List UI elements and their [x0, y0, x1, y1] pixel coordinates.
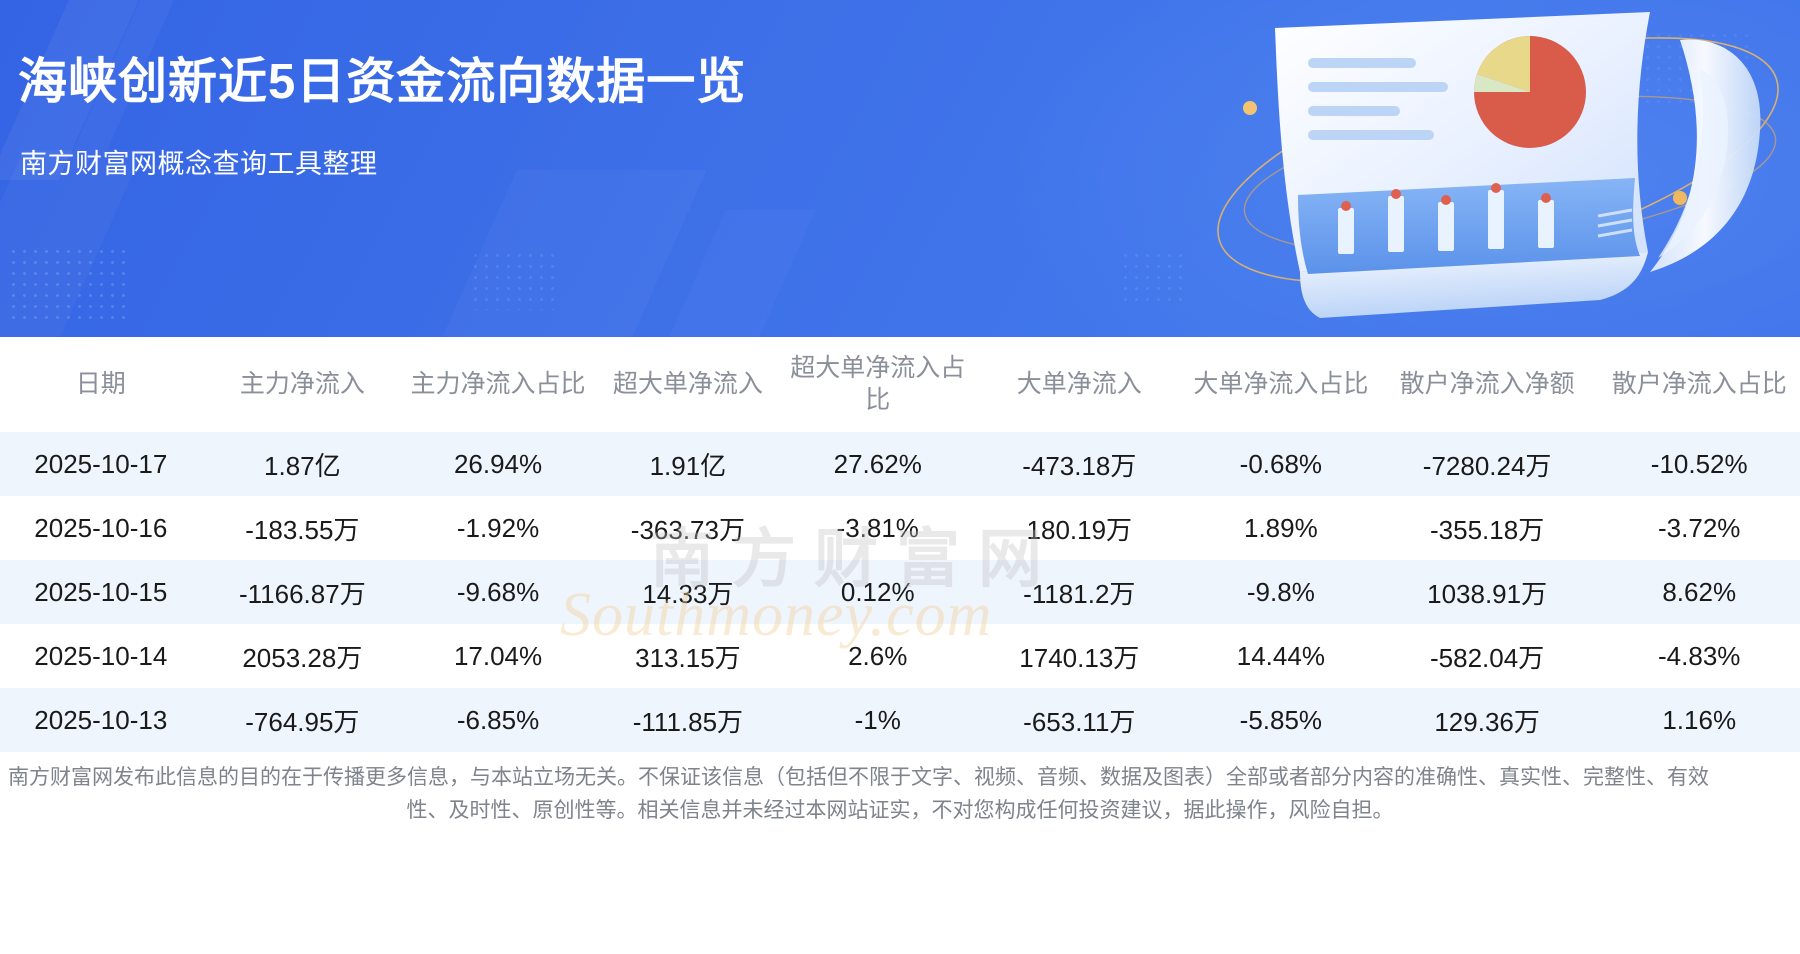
cell-main-net: -764.95万 — [202, 688, 404, 752]
page-subtitle: 南方财富网概念查询工具整理 — [20, 148, 378, 180]
cell-retail-pct: 8.62% — [1598, 560, 1800, 624]
column-header-xl-pct: 超大单净流入占比 — [783, 337, 973, 432]
report-illustration-icon — [1180, 0, 1800, 337]
disclaimer-footer: 南方财富网发布此信息的目的在于传播更多信息，与本站立场无关。不保证该信息（包括但… — [0, 752, 1800, 954]
cell-main-pct: 26.94% — [403, 432, 593, 496]
table-body: 2025-10-17 1.87亿 26.94% 1.91亿 27.62% -47… — [0, 432, 1800, 752]
cell-retail-net: 1038.91万 — [1376, 560, 1599, 624]
cell-lg-net: 1740.13万 — [973, 624, 1186, 688]
cell-xl-pct: -3.81% — [783, 496, 973, 560]
disclaimer-line-2: 性、及时性、原创性等。相关信息并未经过本网站证实，不对您构成任何投资建议，据此操… — [8, 795, 1792, 828]
page-root: 海峡创新近5日资金流向数据一览 南方财富网概念查询工具整理 — [0, 0, 1800, 954]
cell-xl-pct: 27.62% — [783, 432, 973, 496]
cell-retail-pct: -4.83% — [1598, 624, 1800, 688]
table-row: 2025-10-13 -764.95万 -6.85% -111.85万 -1% … — [0, 688, 1800, 752]
fund-flow-table: 日期 主力净流入 主力净流入占比 超大单净流入 超大单净流入占比 大单净流入 大… — [0, 337, 1800, 752]
cell-main-net: -183.55万 — [202, 496, 404, 560]
decorative-streak — [654, 210, 815, 337]
cell-main-pct: 17.04% — [403, 624, 593, 688]
decorative-dot-pattern — [1120, 250, 1190, 308]
cell-lg-net: -473.18万 — [973, 432, 1186, 496]
fund-flow-table-container: 日期 主力净流入 主力净流入占比 超大单净流入 超大单净流入占比 大单净流入 大… — [0, 337, 1800, 752]
cell-date: 2025-10-14 — [0, 624, 202, 688]
cell-xl-net: 1.91亿 — [593, 432, 783, 496]
column-header-lg-net: 大单净流入 — [973, 337, 1186, 432]
cell-date: 2025-10-17 — [0, 432, 202, 496]
column-header-retail-pct: 散户净流入占比 — [1598, 337, 1800, 432]
cell-date: 2025-10-16 — [0, 496, 202, 560]
cell-xl-pct: 0.12% — [783, 560, 973, 624]
cell-retail-pct: -3.72% — [1598, 496, 1800, 560]
cell-date: 2025-10-13 — [0, 688, 202, 752]
cell-xl-net: 14.33万 — [593, 560, 783, 624]
cell-lg-pct: -0.68% — [1186, 432, 1376, 496]
column-header-xl-net: 超大单净流入 — [593, 337, 783, 432]
column-header-main-net: 主力净流入 — [202, 337, 404, 432]
table-row: 2025-10-17 1.87亿 26.94% 1.91亿 27.62% -47… — [0, 432, 1800, 496]
column-header-retail-net: 散户净流入净额 — [1376, 337, 1599, 432]
disclaimer-line-1: 南方财富网发布此信息的目的在于传播更多信息，与本站立场无关。不保证该信息（包括但… — [8, 762, 1792, 795]
table-row: 2025-10-15 -1166.87万 -9.68% 14.33万 0.12%… — [0, 560, 1800, 624]
cell-date: 2025-10-15 — [0, 560, 202, 624]
cell-main-pct: -6.85% — [403, 688, 593, 752]
cell-xl-net: 313.15万 — [593, 624, 783, 688]
cell-lg-net: -653.11万 — [973, 688, 1186, 752]
cell-main-pct: -1.92% — [403, 496, 593, 560]
table-row: 2025-10-16 -183.55万 -1.92% -363.73万 -3.8… — [0, 496, 1800, 560]
column-header-main-pct: 主力净流入占比 — [403, 337, 593, 432]
cell-lg-pct: -9.8% — [1186, 560, 1376, 624]
decorative-dot-pattern — [8, 246, 128, 324]
cell-retail-net: -582.04万 — [1376, 624, 1599, 688]
table-row: 2025-10-14 2053.28万 17.04% 313.15万 2.6% … — [0, 624, 1800, 688]
cell-retail-net: -355.18万 — [1376, 496, 1599, 560]
decorative-dot-pattern — [470, 250, 560, 310]
cell-main-net: 1.87亿 — [202, 432, 404, 496]
cell-retail-net: 129.36万 — [1376, 688, 1599, 752]
cell-lg-pct: 1.89% — [1186, 496, 1376, 560]
cell-main-pct: -9.68% — [403, 560, 593, 624]
decorative-streak — [423, 170, 706, 337]
page-title: 海峡创新近5日资金流向数据一览 — [18, 55, 746, 110]
cell-xl-net: -111.85万 — [593, 688, 783, 752]
cell-lg-pct: -5.85% — [1186, 688, 1376, 752]
cell-main-net: -1166.87万 — [202, 560, 404, 624]
cell-xl-pct: -1% — [783, 688, 973, 752]
decorative-dot-pattern — [1620, 30, 1750, 110]
cell-retail-pct: -10.52% — [1598, 432, 1800, 496]
column-header-lg-pct: 大单净流入占比 — [1186, 337, 1376, 432]
cell-xl-net: -363.73万 — [593, 496, 783, 560]
column-header-date: 日期 — [0, 337, 202, 432]
cell-retail-net: -7280.24万 — [1376, 432, 1599, 496]
cell-lg-pct: 14.44% — [1186, 624, 1376, 688]
cell-lg-net: -1181.2万 — [973, 560, 1186, 624]
cell-retail-pct: 1.16% — [1598, 688, 1800, 752]
table-header: 日期 主力净流入 主力净流入占比 超大单净流入 超大单净流入占比 大单净流入 大… — [0, 337, 1800, 432]
hero-banner: 海峡创新近5日资金流向数据一览 南方财富网概念查询工具整理 — [0, 0, 1800, 337]
table-header-row: 日期 主力净流入 主力净流入占比 超大单净流入 超大单净流入占比 大单净流入 大… — [0, 337, 1800, 432]
cell-lg-net: 180.19万 — [973, 496, 1186, 560]
cell-xl-pct: 2.6% — [783, 624, 973, 688]
cell-main-net: 2053.28万 — [202, 624, 404, 688]
